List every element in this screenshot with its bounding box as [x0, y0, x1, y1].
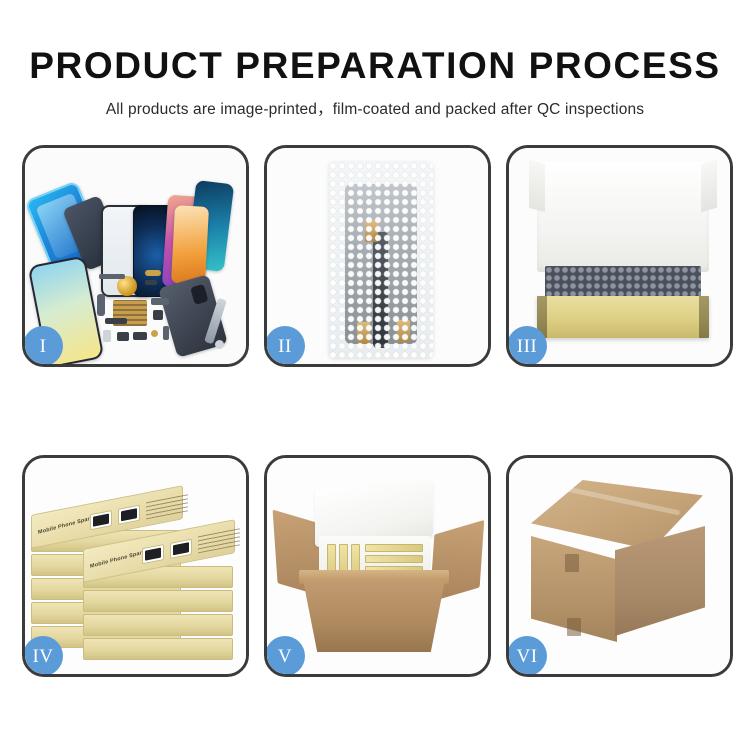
box-window: [142, 544, 164, 564]
step-3-illustration: [509, 148, 730, 364]
carton-body: [303, 580, 445, 652]
step-numeral: III: [517, 337, 537, 356]
step-badge-5: V: [265, 636, 305, 676]
step-1-illustration: [25, 148, 246, 364]
spare-part: [145, 270, 161, 276]
page-title: PRODUCT PREPARATION PROCESS: [0, 47, 750, 84]
phone-orange-gradient: [171, 205, 209, 285]
stacked-box: [83, 614, 233, 636]
step-numeral: II: [278, 337, 292, 356]
box-window: [170, 539, 192, 559]
step-numeral: IV: [32, 647, 53, 666]
stacked-box: [83, 590, 233, 612]
product-preparation-infographic: PRODUCT PREPARATION PROCESS All products…: [0, 0, 750, 750]
step-numeral: VI: [516, 647, 537, 666]
step-5-illustration: [267, 458, 488, 674]
spare-part: [133, 332, 147, 340]
box-spec-lines: [198, 527, 240, 553]
spare-part: [151, 330, 158, 337]
step-numeral: I: [40, 337, 47, 356]
bubble-wrap-bag: [329, 162, 433, 358]
process-step-2[interactable]: II: [264, 145, 491, 367]
step-badge-4: IV: [23, 636, 63, 676]
process-step-4[interactable]: Mobile Phone Spare Parts Mobile Phone Sp…: [22, 455, 249, 677]
page-subtitle: All products are image-printed，film-coat…: [0, 97, 750, 119]
spare-part: [105, 318, 127, 324]
wireless-charge-coil: [117, 276, 137, 296]
yellow-box-tray: [537, 296, 709, 338]
carton-tape-tab: [567, 618, 581, 636]
spare-part: [145, 280, 157, 285]
spare-part: [153, 310, 163, 320]
spare-part: [103, 330, 111, 342]
step-badge-6: VI: [507, 636, 547, 676]
step-badge-1: I: [23, 326, 63, 366]
yellow-box: [365, 544, 423, 552]
box-window: [90, 510, 112, 530]
step-badge-2: II: [265, 326, 305, 366]
box-window: [118, 505, 140, 525]
step-badge-3: III: [507, 326, 547, 366]
box-spec-lines: [146, 493, 188, 519]
yellow-box: [365, 555, 423, 563]
process-step-6[interactable]: VI: [506, 455, 733, 677]
process-step-5[interactable]: V: [264, 455, 491, 677]
process-step-3[interactable]: III: [506, 145, 733, 367]
spare-part: [99, 274, 125, 279]
carton-tape-tab: [565, 554, 579, 572]
step-2-illustration: [267, 148, 488, 364]
spare-part: [117, 332, 129, 341]
white-foam-lid: [537, 162, 709, 272]
bubble-texture: [329, 162, 433, 358]
stacked-box: [83, 638, 233, 660]
box-stack: Mobile Phone Spare Parts Mobile Phone Sp…: [31, 476, 243, 662]
spare-part: [97, 294, 105, 316]
spare-part: [151, 298, 169, 305]
header: PRODUCT PREPARATION PROCESS All products…: [0, 0, 750, 119]
process-step-1[interactable]: I: [22, 145, 249, 367]
step-4-illustration: Mobile Phone Spare Parts Mobile Phone Sp…: [25, 458, 246, 674]
step-6-illustration: [509, 458, 730, 674]
spare-part: [163, 326, 169, 340]
spare-part: [215, 340, 224, 349]
step-numeral: V: [278, 647, 292, 666]
bubble-wrapped-contents: [545, 266, 701, 300]
process-step-grid: I II: [22, 145, 733, 677]
